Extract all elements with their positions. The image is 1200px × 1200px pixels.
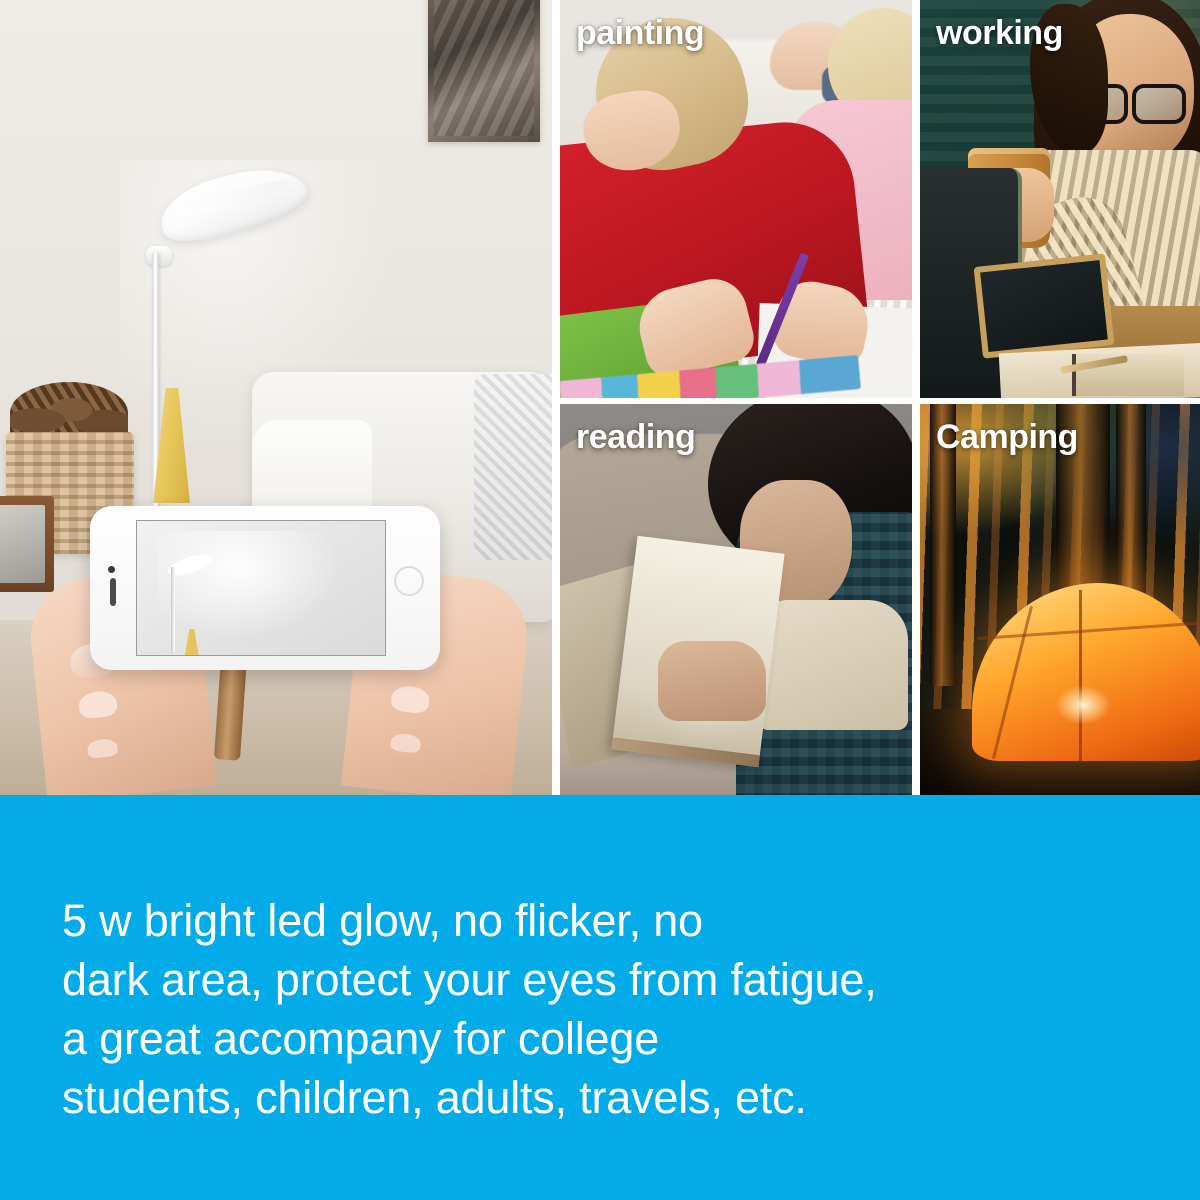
- scenario-collage: painting working: [0, 0, 1200, 795]
- feature-line-1: 5 w bright led glow, no flicker, no: [62, 891, 1142, 950]
- screen-lamp-glow: [157, 531, 357, 651]
- feature-description-text: 5 w bright led glow, no flicker, no dark…: [62, 891, 1142, 1127]
- cell-label-painting: painting: [576, 14, 704, 53]
- phone-earpiece-speaker: [110, 578, 116, 606]
- phone-screen-showing-lamp: [136, 520, 386, 656]
- white-smartphone: [90, 506, 440, 670]
- product-marketing-image: painting working: [0, 0, 1200, 1200]
- feature-line-4: students, children, adults, travels, etc…: [62, 1068, 1142, 1127]
- sofa-patterned-cushion: [474, 374, 552, 560]
- reader-hand: [658, 641, 766, 721]
- scenario-cell-camping: Camping: [920, 404, 1200, 795]
- feature-text-band: 5 w bright led glow, no flicker, no dark…: [0, 795, 1200, 1200]
- cell-label-working: working: [936, 14, 1063, 53]
- framed-wall-art: [428, 0, 540, 142]
- led-lamp-joint: [146, 246, 172, 266]
- tent-pole: [977, 621, 1200, 640]
- cell-label-reading: reading: [576, 418, 695, 457]
- screen-lamp-pole: [171, 567, 175, 653]
- tent-interior-light: [1055, 685, 1111, 725]
- scenario-grid: painting working: [560, 0, 1200, 795]
- reader-sleeve: [758, 600, 908, 730]
- scenario-cell-painting: painting: [560, 0, 912, 398]
- feature-line-2: dark area, protect your eyes from fatigu…: [62, 950, 1142, 1009]
- phone-front-camera-icon: [108, 566, 115, 573]
- phone-home-button: [394, 566, 424, 596]
- hero-photo-led-desk-lamp: [0, 0, 552, 795]
- scenario-cell-working: working: [920, 0, 1200, 398]
- small-picture-frame: [0, 496, 54, 592]
- feature-line-3: a great accompany for college: [62, 1009, 1142, 1068]
- cell-label-camping: Camping: [936, 418, 1078, 457]
- drawing-tablet: [974, 253, 1115, 358]
- tent-seam: [1079, 590, 1082, 761]
- scenario-cell-reading: reading: [560, 404, 912, 795]
